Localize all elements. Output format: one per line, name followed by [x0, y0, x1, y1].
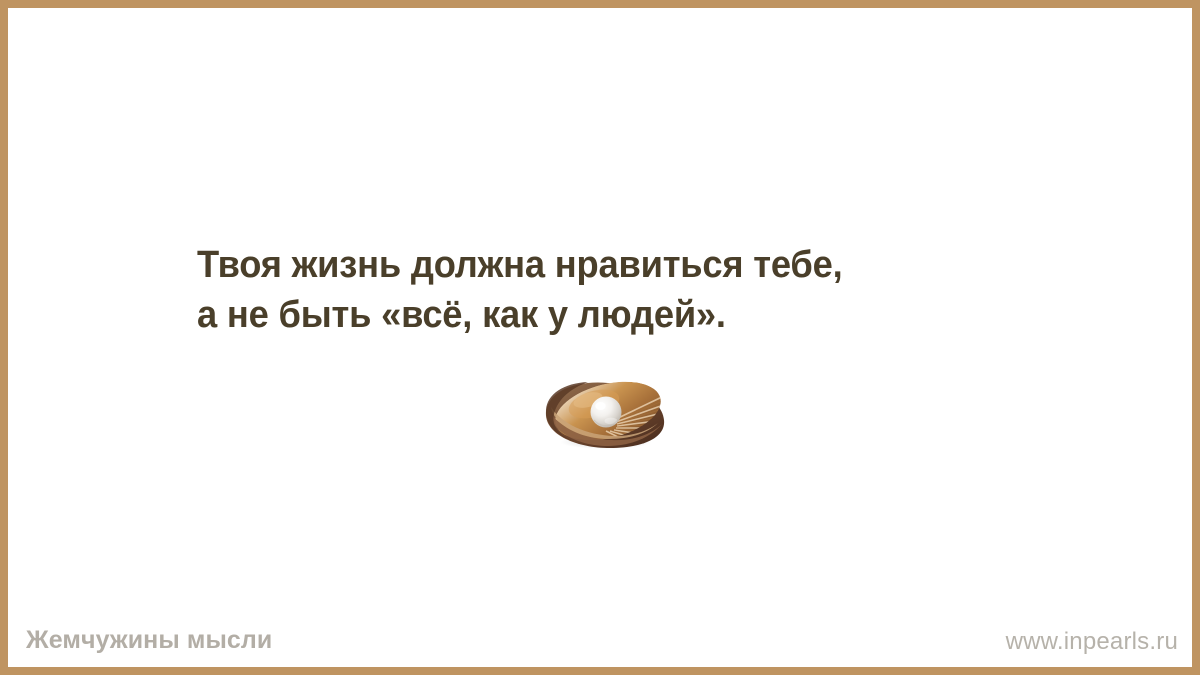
footer-brand: Жемчужины мысли	[26, 626, 272, 655]
footer-website-link[interactable]: www.inpearls.ru	[1006, 628, 1178, 656]
quote-card: Твоя жизнь должна нравиться тебе, а не б…	[0, 0, 1200, 675]
quote-line-1: Твоя жизнь должна нравиться тебе,	[197, 240, 990, 290]
oyster-shell-with-pearl-icon	[538, 376, 674, 452]
quote-line-2: а не быть «всё, как у людей».	[197, 290, 990, 340]
quote-text-block: Твоя жизнь должна нравиться тебе, а не б…	[197, 240, 1027, 340]
